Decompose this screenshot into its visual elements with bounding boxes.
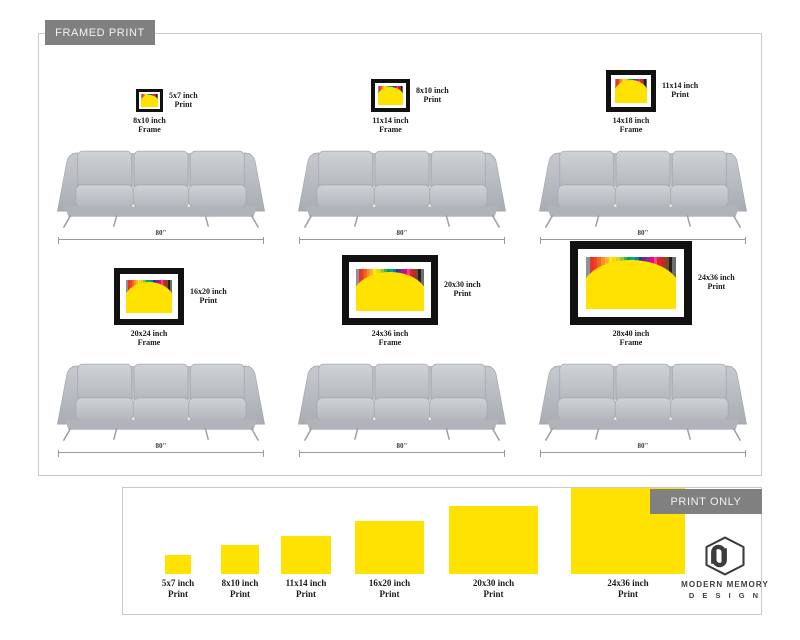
- frame-size-label: 24x36 inchFrame: [318, 329, 462, 348]
- print-size-label-line1: 24x36 inch: [698, 273, 735, 282]
- print-artwork: [281, 536, 331, 574]
- sofa-width-label: 80": [540, 229, 746, 237]
- print-artwork: [141, 94, 158, 107]
- sofa-width-label: 80": [299, 442, 505, 450]
- framed-item[interactable]: 24x36 inchPrint28x40 inchFrame: [522, 247, 763, 467]
- sofa-width-label: 80": [540, 442, 746, 450]
- dimension-line: [299, 239, 505, 240]
- picture-frame[interactable]: [371, 79, 410, 112]
- yellow-dome: [126, 282, 172, 313]
- print-size-label-line2: Print: [169, 100, 198, 109]
- sofa-illustration: [532, 351, 754, 441]
- sofa-width-label: 80": [58, 229, 264, 237]
- frame-mat: [375, 83, 406, 108]
- framed-item[interactable]: 16x20 inchPrint20x24 inchFrame: [40, 247, 281, 467]
- frame-size-label-line2: Frame: [347, 125, 434, 134]
- frame-size-label-line2: Frame: [546, 338, 716, 347]
- frame-size-label-line1: 14x18 inch: [582, 116, 680, 125]
- print-artwork: [126, 280, 172, 313]
- print-artwork: [378, 86, 403, 105]
- print-size-label-line1: 20x30 inch: [444, 280, 481, 289]
- sofa-illustration: [532, 138, 754, 228]
- print-only-item[interactable]: 11x14 inchPrint: [281, 536, 331, 574]
- frame-border: [114, 268, 184, 325]
- frame-size-label-line2: Frame: [90, 338, 208, 347]
- print-size-label: 5x7 inchPrint: [169, 91, 198, 110]
- print-size-label-line2: Print: [662, 90, 698, 99]
- yellow-dome: [586, 260, 676, 309]
- sofa-width-label: 80": [58, 442, 264, 450]
- yellow-dome: [378, 87, 403, 105]
- print-only-tab: PRINT ONLY: [650, 489, 762, 514]
- frame-mat: [139, 92, 160, 109]
- framed-row-2: 16x20 inchPrint20x24 inchFrame: [39, 247, 763, 467]
- frame-size-label-line1: 20x24 inch: [90, 329, 208, 338]
- dimension-line: [540, 452, 746, 453]
- print-artwork: [221, 545, 259, 574]
- print-size-label-line1: 8x10 inch: [416, 86, 449, 95]
- print-size-label-line2: Print: [444, 289, 481, 298]
- print-artwork: [356, 269, 424, 311]
- picture-frame[interactable]: [570, 241, 692, 325]
- picture-frame[interactable]: [606, 70, 656, 112]
- frame-size-label-line1: 11x14 inch: [347, 116, 434, 125]
- frame-size-label: 8x10 inchFrame: [112, 116, 187, 135]
- sofa-illustration: [50, 138, 272, 228]
- framed-item[interactable]: 8x10 inchPrint11x14 inchFrame: [281, 34, 522, 254]
- print-artwork: [586, 257, 676, 309]
- print-only-item[interactable]: 20x30 inchPrint: [449, 506, 538, 574]
- frame-size-label-line2: Frame: [112, 125, 187, 134]
- frame-size-label-line2: Frame: [582, 125, 680, 134]
- sofa-width-label: 80": [299, 229, 505, 237]
- frame-size-label-line2: Frame: [318, 338, 462, 347]
- frame-size-label-line1: 8x10 inch: [112, 116, 187, 125]
- sofa-illustration: [50, 351, 272, 441]
- print-size-label-line1: 11x14 inch: [662, 81, 698, 90]
- frame-mat: [120, 274, 178, 319]
- picture-frame[interactable]: [114, 268, 184, 325]
- yellow-dome: [615, 80, 647, 103]
- print-size-label-line2: Print: [698, 282, 735, 291]
- frame-size-label-line1: 24x36 inch: [318, 329, 462, 338]
- sofa-width-dimension: 80": [58, 230, 264, 244]
- frame-mat: [611, 75, 651, 107]
- picture-frame[interactable]: [342, 255, 438, 325]
- print-artwork: [165, 555, 191, 574]
- brand-name-line1: MODERN MEMORY: [673, 580, 777, 589]
- frame-mat: [349, 262, 431, 318]
- frame-border: [371, 79, 410, 112]
- framed-print-tab: FRAMED PRINT: [45, 20, 155, 45]
- frame-border: [136, 89, 163, 112]
- frame-size-label: 28x40 inchFrame: [546, 329, 716, 348]
- print-size-label: 8x10 inchPrint: [416, 86, 449, 105]
- print-artwork: [615, 79, 647, 103]
- frame-size-label-line1: 28x40 inch: [546, 329, 716, 338]
- print-size-label: 16x20 inchPrint: [190, 287, 227, 306]
- sofa-width-dimension: 80": [299, 443, 505, 457]
- print-size-label-line1: 5x7 inch: [169, 91, 198, 100]
- frame-size-label: 14x18 inchFrame: [582, 116, 680, 135]
- frame-border: [342, 255, 438, 325]
- yellow-dome: [141, 95, 158, 107]
- framed-item[interactable]: 20x30 inchPrint24x36 inchFrame: [281, 247, 522, 467]
- print-size-label: 11x14 inchPrint: [662, 81, 698, 100]
- frame-size-label: 11x14 inchFrame: [347, 116, 434, 135]
- dimension-line: [58, 239, 264, 240]
- frame-border: [570, 241, 692, 325]
- print-only-item[interactable]: 5x7 inchPrint: [165, 555, 191, 574]
- framed-print-panel: 5x7 inchPrint8x10 inchFrame: [38, 33, 762, 476]
- framed-item[interactable]: 11x14 inchPrint14x18 inchFrame: [522, 34, 763, 254]
- print-artwork: [449, 506, 538, 574]
- sofa-width-dimension: 80": [58, 443, 264, 457]
- framed-row-1: 5x7 inchPrint8x10 inchFrame: [39, 34, 763, 254]
- brand-name-line2: D E S I G N: [673, 591, 777, 600]
- print-only-item[interactable]: 16x20 inchPrint: [355, 521, 424, 574]
- dimension-line: [58, 452, 264, 453]
- picture-frame[interactable]: [136, 89, 163, 112]
- frame-mat: [578, 249, 684, 317]
- sofa-illustration: [291, 351, 513, 441]
- print-size-label-line1: 16x20 inch: [190, 287, 227, 296]
- size-guide-stage: 5x7 inchPrint8x10 inchFrame: [0, 0, 800, 640]
- frame-size-label: 20x24 inchFrame: [90, 329, 208, 348]
- sofa-width-dimension: 80": [299, 230, 505, 244]
- print-only-item[interactable]: 8x10 inchPrint: [221, 545, 259, 574]
- hexagon-logo-icon: [703, 536, 747, 576]
- brand-logo: MODERN MEMORY D E S I G N: [673, 536, 777, 602]
- framed-item[interactable]: 5x7 inchPrint8x10 inchFrame: [40, 34, 281, 254]
- dimension-line: [299, 452, 505, 453]
- dimension-line: [540, 239, 746, 240]
- print-size-label: 20x30 inchPrint: [444, 280, 481, 299]
- yellow-dome: [356, 272, 424, 311]
- sofa-illustration: [291, 138, 513, 228]
- print-size-label-line2: Print: [416, 95, 449, 104]
- frame-border: [606, 70, 656, 112]
- print-artwork: [355, 521, 424, 574]
- print-size-label-line2: Print: [190, 296, 227, 305]
- print-size-label: 24x36 inchPrint: [698, 273, 735, 292]
- sofa-width-dimension: 80": [540, 443, 746, 457]
